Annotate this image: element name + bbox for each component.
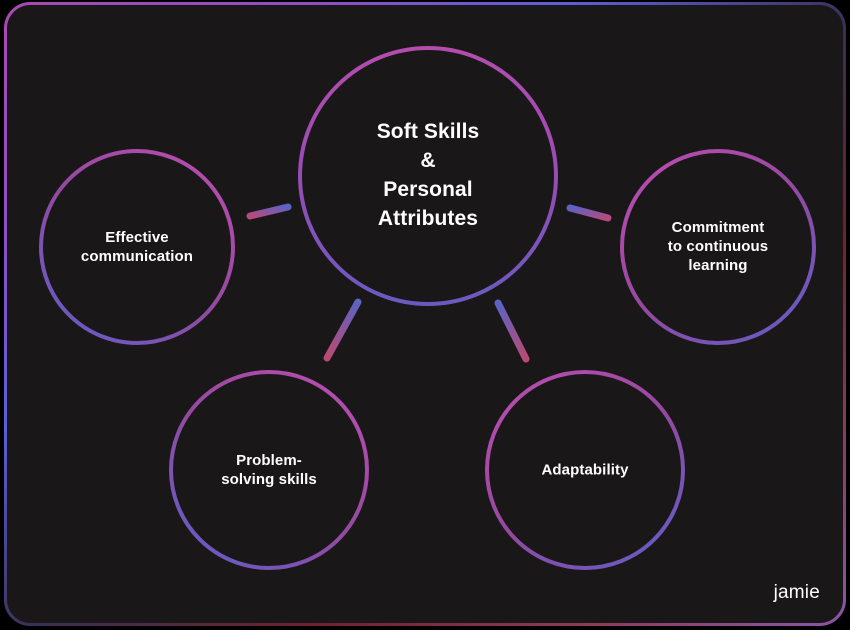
central-node-label: Soft Skills & Personal Attributes (377, 118, 480, 234)
connector-effective-communication (250, 207, 288, 216)
node-label-adaptability: Adaptability (541, 460, 628, 479)
node-label-problem-solving-skills: Problem- solving skills (221, 451, 317, 489)
diagram-canvas: Soft Skills & Personal Attributes Effect… (4, 2, 846, 626)
connector-adaptability (498, 303, 526, 359)
connector-commitment-to-continuous-learning (570, 208, 608, 218)
mind-map-graphic (4, 2, 846, 626)
node-label-effective-communication: Effective communication (81, 228, 193, 266)
connector-problem-solving-skills (327, 302, 358, 358)
author-watermark: jamie (774, 582, 820, 604)
node-label-commitment-to-continuous-learning: Commitment to continuous learning (668, 218, 768, 276)
